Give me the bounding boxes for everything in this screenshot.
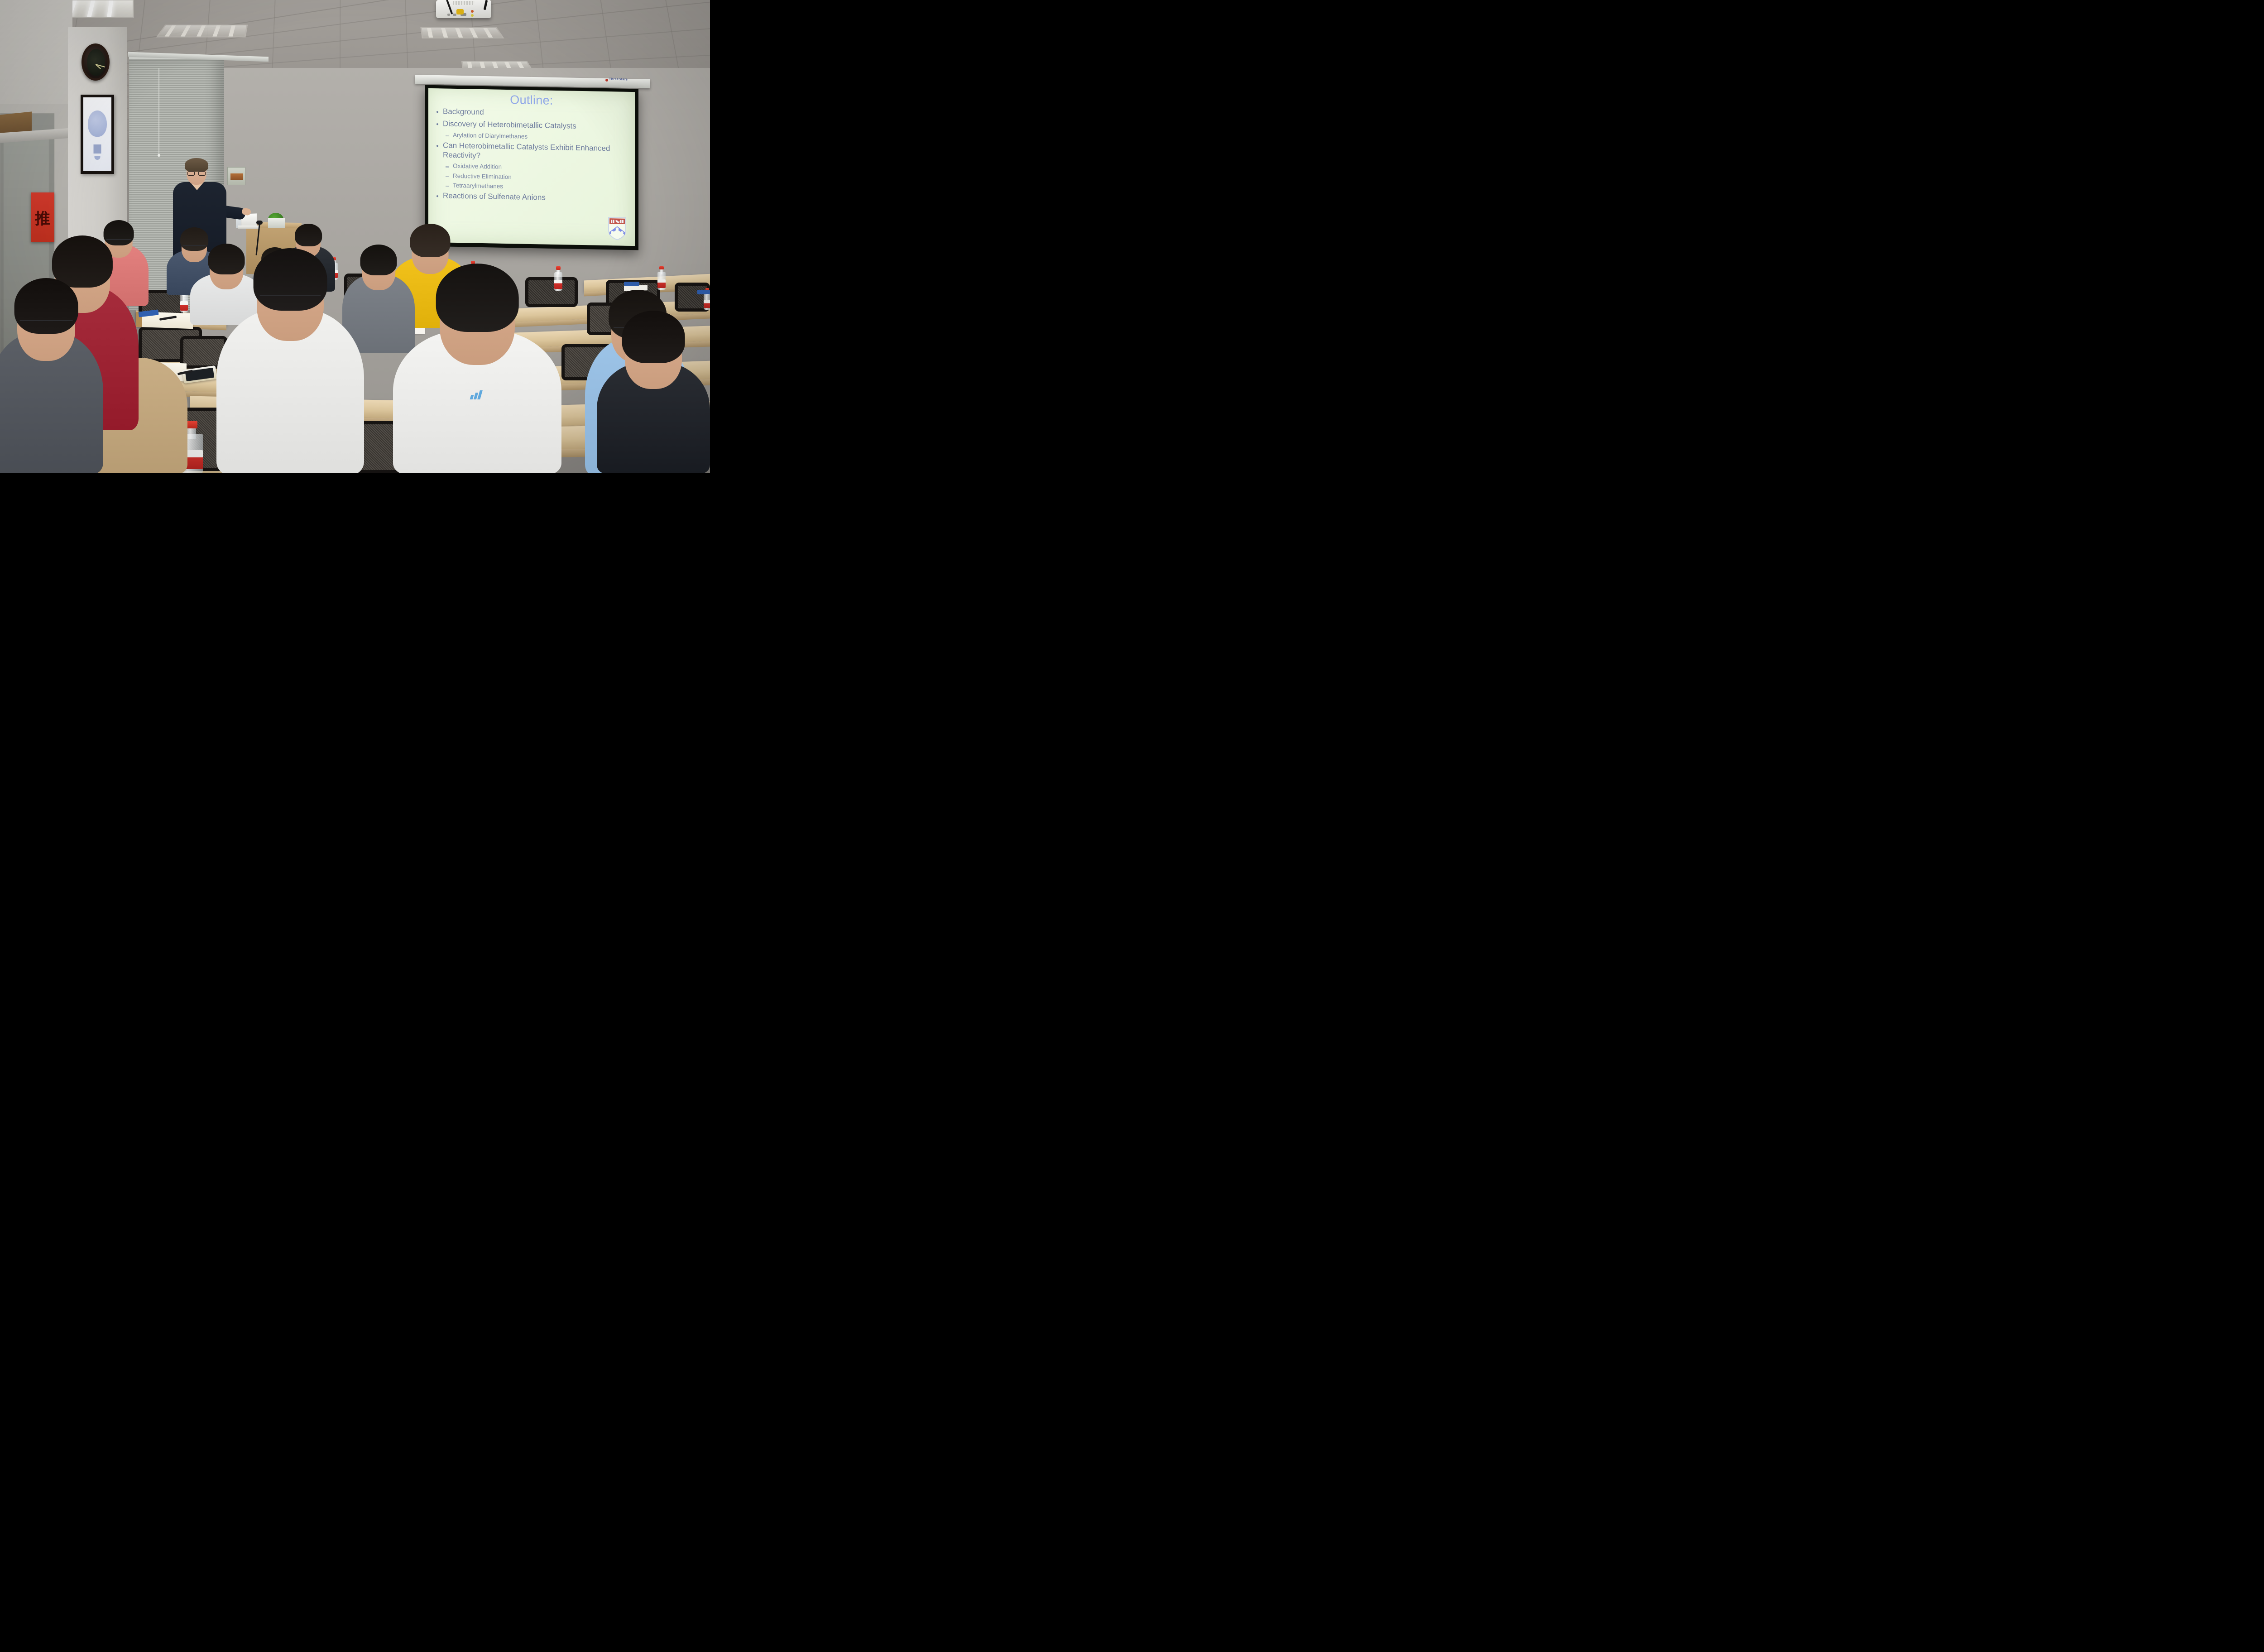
audience-layer: [0, 0, 710, 473]
attendee-yellow-polo-hair: [410, 224, 450, 257]
attendee-dark-back-mid-hair: [295, 224, 322, 246]
attendee-grey-tee: [0, 278, 103, 473]
attendee-grey-tee-glasses-icon: [19, 320, 73, 331]
attendee-white-tee-center: [216, 248, 364, 473]
lecture-hall-photo: 推 ThreeStars Outline: BackgroundDiscover…: [0, 0, 710, 473]
attendee-dark-right-hair: [622, 311, 685, 363]
attendee-white-tee-center-glasses-icon: [259, 295, 321, 307]
attendee-grey-tee-center-hair: [360, 245, 397, 275]
attendee-white-polo-adidas: [393, 264, 561, 473]
attendee-dark-right: [597, 311, 710, 473]
attendee-white-polo-adidas-hair: [436, 264, 519, 332]
adidas-logo: [470, 390, 482, 399]
